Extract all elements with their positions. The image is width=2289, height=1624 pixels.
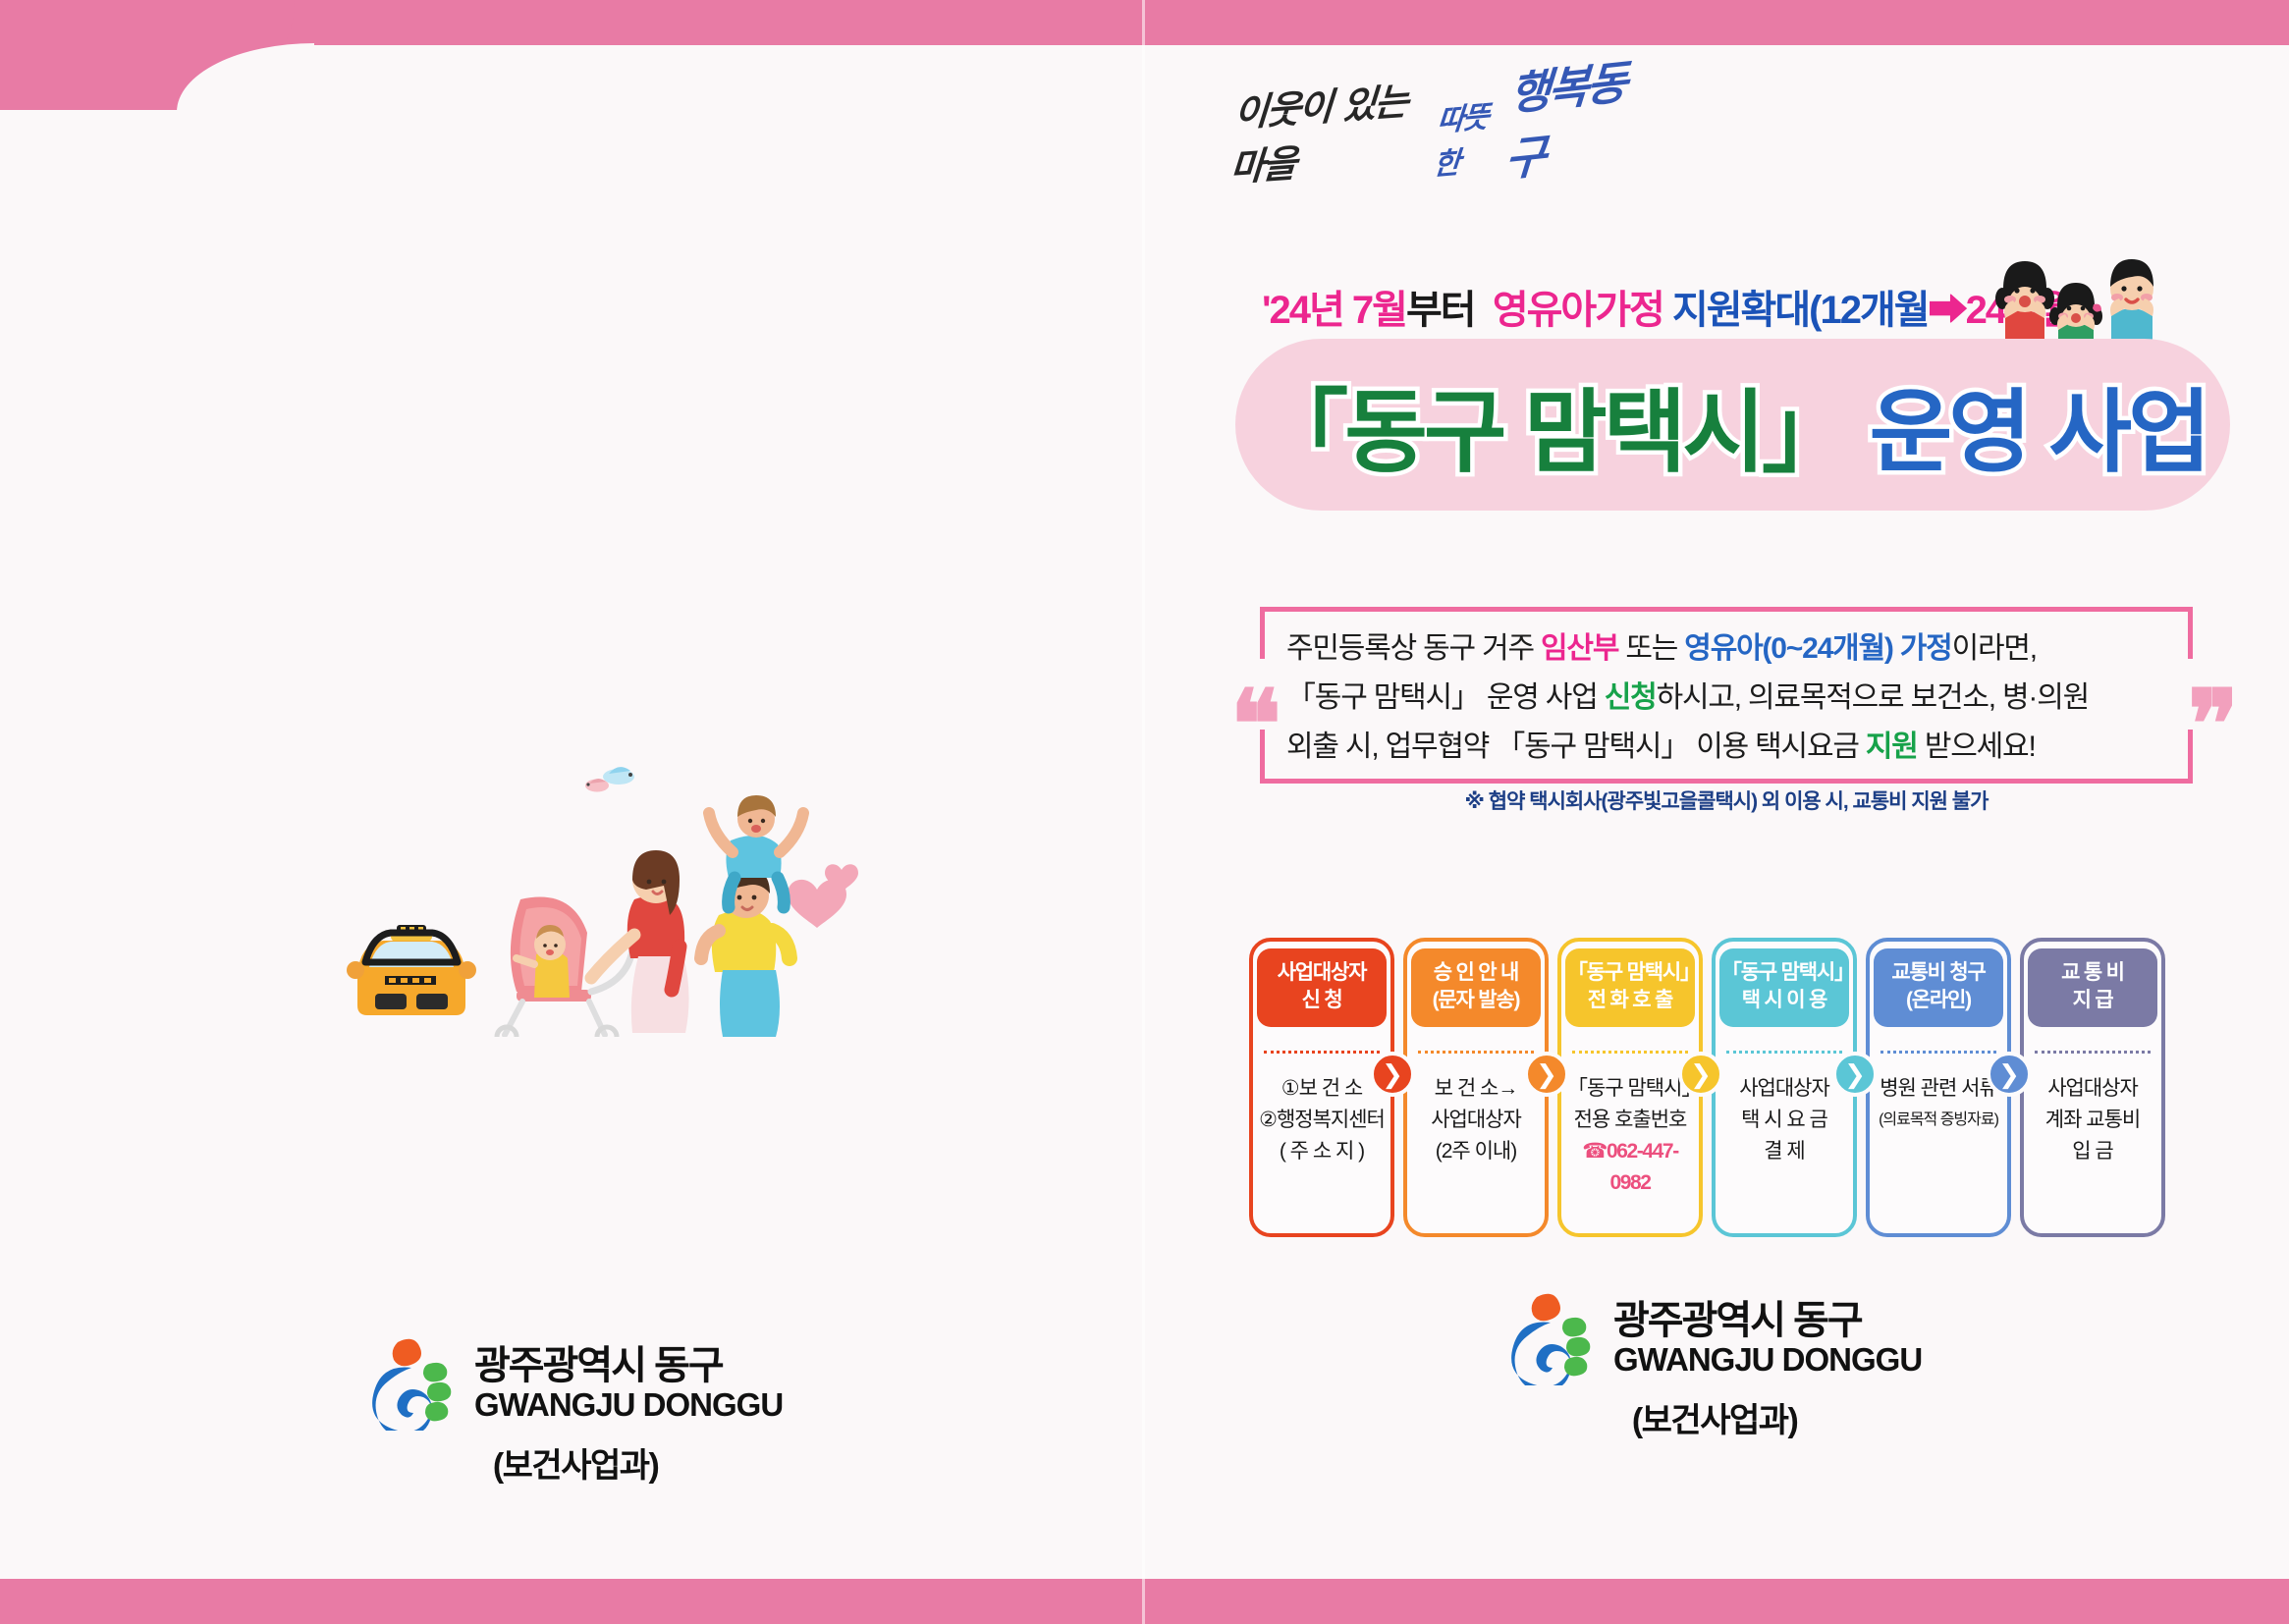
process-flow: 사업대상자신 청①보 건 소②행정복지센터( 주 소 지 )❯승 인 안 내(문… [1249,938,2165,1237]
flow-step-body-2: 보 건 소→사업대상자(2주 이내) [1431,1073,1521,1167]
main-title-blue: 운영 사업 [1870,383,2207,483]
description-line-3: 외출 시, 업무협약 「동구 맘택시」 이용 택시요금 지원 받으세요! [1286,723,2180,772]
pink-hearts-icon [788,864,858,928]
flow-step-header-6: 교 통 비지 급 [2028,948,2157,1027]
slogan-part-1: 이웃이 있는 마을 [1228,70,1426,191]
flow-step-header-5: 교통비 청구(온라인) [1874,948,2003,1027]
logo-block-left: 광주광역시 동구 GWANGJU DONGGU (보건사업과) [368,1336,783,1487]
flow-step-body-line3-3: ☎062-447-0982 [1567,1136,1693,1199]
logo-row-right: 광주광역시 동구 GWANGJU DONGGU [1507,1291,1922,1385]
flow-step-header-2: 승 인 안 내(문자 발송) [1411,948,1541,1027]
flow-step-divider-6 [2035,1051,2151,1054]
quote-close-icon: ❞ [2188,677,2239,772]
flow-step-header-line2-1: 신 청 [1259,987,1385,1014]
flow-step-body-line3-4: 결 제 [1739,1136,1829,1167]
flow-step-card-4[interactable]: 「동구 맘택시」택 시 이 용사업대상자택 시 요 금결 제❯ [1712,938,1857,1237]
flow-step-body-line1-2: 보 건 소→ [1431,1073,1521,1105]
flow-step-header-line2-4: 택 시 이 용 [1721,987,1847,1014]
flow-step-body-6: 사업대상자계좌 교통비입 금 [2045,1073,2140,1167]
flow-step-header-line1-6: 교 통 비 [2030,959,2155,987]
flow-step-body-line2-2: 사업대상자 [1431,1105,1521,1136]
headline-seg-3: 영유아가정 [1493,289,1663,332]
desc-l2-a: 「동구 맘택시」 운영 사업 [1286,681,1605,714]
three-children-illustration [1984,228,2180,355]
headline-seg-2: 부터 [1406,289,1475,332]
flow-step-header-line2-2: (문자 발송) [1413,987,1539,1014]
flow-arrow-icon-3: ❯ [1678,1052,1723,1097]
desc-l1-b: 또는 [1618,632,1684,665]
flow-step-header-3: 「동구 맘택시」전 화 호 출 [1565,948,1695,1027]
flow-step-body-line1-6: 사업대상자 [2045,1073,2140,1105]
gwangju-donggu-emblem-icon [368,1336,459,1431]
flow-step-divider-2 [1418,1051,1534,1054]
headline-seg-4: 지원확대(12개월 [1672,289,1929,332]
flow-step-divider-5 [1880,1051,1996,1054]
logo-text-right: 광주광역시 동구 GWANGJU DONGGU [1613,1299,1922,1378]
description-line-2: 「동구 맘택시」 운영 사업 신청하시고, 의료목적으로 보건소, 병·의원 [1286,674,2180,723]
flow-step-card-1[interactable]: 사업대상자신 청①보 건 소②행정복지센터( 주 소 지 )❯ [1249,938,1394,1237]
main-title-green: 「동구 맘택시」 [1258,383,1848,483]
family-taxi-illustration [314,723,864,1037]
slogan-part-2: 따뜻한 [1432,91,1497,184]
flow-arrow-icon-5: ❯ [1987,1052,2032,1097]
brand-slogan: 이웃이 있는 마을 따뜻한 행복동구 [1232,116,1625,185]
main-title-pill: 「동구 맘택시」 운영 사업 [1235,339,2230,511]
flow-step-header-line1-5: 교통비 청구 [1876,959,2001,987]
flow-step-divider-4 [1726,1051,1842,1054]
flow-step-header-line1-3: 「동구 맘택시」 [1567,959,1693,987]
logo-block-right: 광주광역시 동구 GWANGJU DONGGU (보건사업과) [1507,1291,1922,1441]
flow-step-body-line1-4: 사업대상자 [1739,1073,1829,1105]
desc-l1-highlight-blue: 영유아(0~24개월) 가정 [1684,632,1951,665]
flow-step-body-line3-6: 입 금 [2045,1136,2140,1167]
flow-step-header-line1-4: 「동구 맘택시」 [1721,959,1847,987]
description-text: 주민등록상 동구 거주 임산부 또는 영유아(0~24개월) 가정이라면, 「동… [1286,624,2180,772]
flow-step-body-line1-3: 「동구 맘택시」 [1567,1073,1693,1105]
logo-korean-name-right: 광주광역시 동구 [1613,1299,1922,1342]
gwangju-donggu-emblem-icon-right [1507,1291,1598,1385]
mother-figure [591,850,689,1033]
flow-step-card-6[interactable]: 교 통 비지 급사업대상자계좌 교통비입 금 [2020,938,2165,1237]
desc-l3-b: 받으세요! [1918,731,2036,763]
flow-step-body-line2-1: ②행정복지센터 [1259,1105,1385,1136]
flow-step-body-line2-5: (의료목적 증빙자료) [1879,1105,1998,1136]
desc-l2-b: 하시고, 의료목적으로 보건소, 병·의원 [1657,681,2089,714]
headline-banner: '24년 7월부터 영유아가정 지원확대(12개월➡24개월) [1262,278,2085,335]
taxi-car-icon [347,925,476,1015]
headline-arrow-icon: ➡ [1929,289,1966,332]
flow-arrow-icon-2: ❯ [1524,1052,1569,1097]
flow-step-card-2[interactable]: 승 인 안 내(문자 발송)보 건 소→사업대상자(2주 이내)❯ [1403,938,1549,1237]
flow-step-body-5: 병원 관련 서류(의료목적 증빙자료) [1879,1073,1998,1136]
father-figure [701,868,790,1037]
description-line-1: 주민등록상 동구 거주 임산부 또는 영유아(0~24개월) 가정이라면, [1286,624,2180,674]
flow-arrow-icon-1: ❯ [1370,1052,1415,1097]
desc-l2-highlight-green: 신청 [1605,681,1657,714]
flow-step-body-4: 사업대상자택 시 요 금결 제 [1739,1073,1829,1167]
flow-step-divider-1 [1264,1051,1380,1054]
stroller-icon [497,897,632,1037]
brochure-page: 광주광역시 동구 GWANGJU DONGGU (보건사업과) 이웃이 있는 마… [0,0,2289,1624]
flow-step-body-line2-6: 계좌 교통비 [2045,1105,2140,1136]
flow-step-card-5[interactable]: 교통비 청구(온라인)병원 관련 서류(의료목적 증빙자료)❯ [1866,938,2011,1237]
desc-l1-highlight-pink: 임산부 [1541,632,1618,665]
description-footnote: ※ 협약 택시회사(광주빛고을콜택시) 외 이용 시, 교통비 지원 불가 [1260,785,2193,815]
flow-arrow-icon-4: ❯ [1832,1052,1878,1097]
flow-step-header-4: 「동구 맘택시」택 시 이 용 [1719,948,1849,1027]
logo-english-name: GWANGJU DONGGU [474,1387,783,1423]
flow-step-body-1: ①보 건 소②행정복지센터( 주 소 지 ) [1259,1073,1385,1167]
headline-seg-1: '24년 7월 [1262,289,1406,332]
flow-step-card-3[interactable]: 「동구 맘택시」전 화 호 출「동구 맘택시」전용 호출번호☎062-447-0… [1557,938,1703,1237]
desc-l3-a: 외출 시, 업무협약 「동구 맘택시」 이용 택시요금 [1286,731,1866,763]
flow-step-header-line2-6: 지 급 [2030,987,2155,1014]
flow-step-body-line1-1: ①보 건 소 [1259,1073,1385,1105]
slogan-part-3: 행복동구 [1503,46,1630,189]
flow-step-header-line1-1: 사업대상자 [1259,959,1385,987]
flow-step-body-line1-5: 병원 관련 서류 [1879,1073,1998,1105]
logo-department-right: (보건사업과) [1632,1393,1798,1441]
main-title-text: 「동구 맘택시」 운영 사업 [1258,359,2207,490]
logo-row: 광주광역시 동구 GWANGJU DONGGU [368,1336,783,1431]
flow-step-body-line3-1: ( 주 소 지 ) [1259,1136,1385,1167]
two-birds-icon [585,767,634,791]
panel-left-back-cover: 광주광역시 동구 GWANGJU DONGGU (보건사업과) [0,45,1142,1579]
flow-step-header-line2-5: (온라인) [1876,987,2001,1014]
flow-step-body-3: 「동구 맘택시」전용 호출번호☎062-447-0982 [1567,1073,1693,1199]
flow-step-body-line2-3: 전용 호출번호 [1567,1105,1693,1136]
flow-step-header-1: 사업대상자신 청 [1257,948,1387,1027]
logo-korean-name: 광주광역시 동구 [474,1344,783,1387]
logo-english-name-right: GWANGJU DONGGU [1613,1342,1922,1378]
quote-open-icon: ❝ [1230,677,1281,772]
desc-l1-c: 이라면, [1952,632,2037,665]
desc-l3-highlight-green: 지원 [1866,731,1918,763]
flow-step-header-line1-2: 승 인 안 내 [1413,959,1539,987]
flow-step-header-line2-3: 전 화 호 출 [1567,987,1693,1014]
logo-text: 광주광역시 동구 GWANGJU DONGGU [474,1344,783,1423]
flow-step-body-line2-4: 택 시 요 금 [1739,1105,1829,1136]
logo-department-left: (보건사업과) [493,1438,659,1487]
flow-step-body-line3-2: (2주 이내) [1431,1136,1521,1167]
desc-l1-a: 주민등록상 동구 거주 [1286,632,1541,665]
flow-step-divider-3 [1572,1051,1688,1054]
